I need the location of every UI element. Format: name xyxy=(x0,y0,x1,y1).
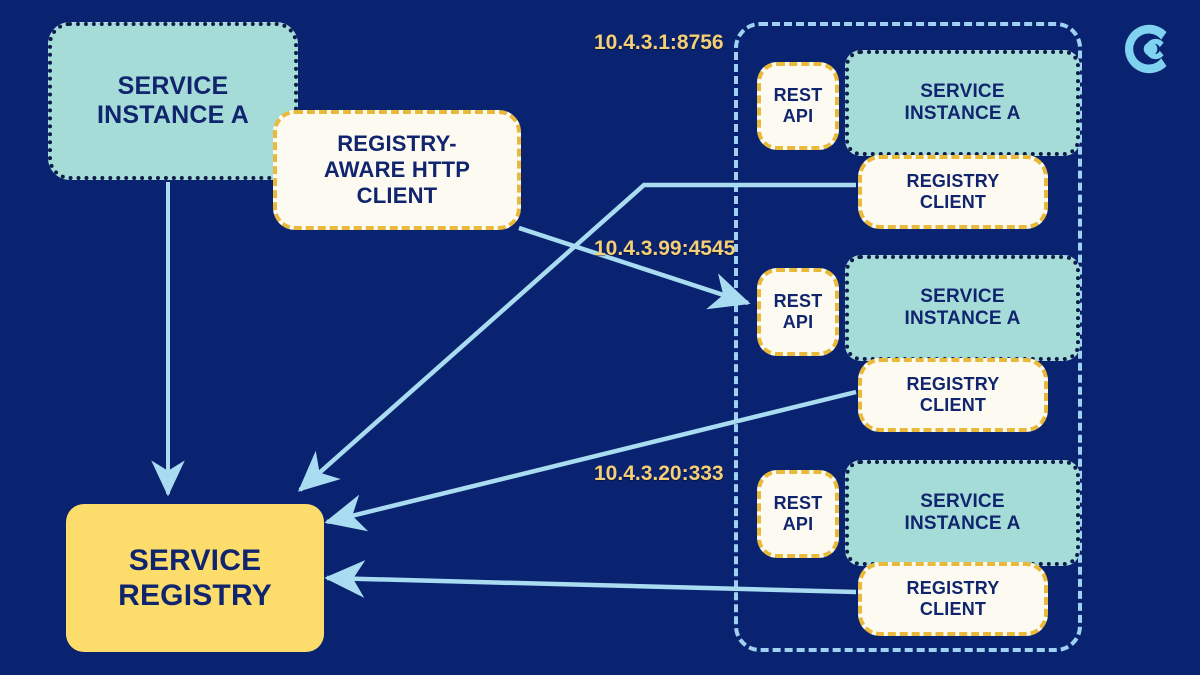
service-registry-line1: SERVICE xyxy=(118,543,272,578)
service-instance-a-1-line1: SERVICE xyxy=(905,81,1021,103)
registry-client-2[interactable]: REGISTRY CLIENT xyxy=(858,358,1048,432)
registry-client-1[interactable]: REGISTRY CLIENT xyxy=(858,155,1048,229)
rest-api-1[interactable]: REST API xyxy=(757,62,839,150)
service-instance-a-3[interactable]: SERVICE INSTANCE A xyxy=(845,460,1080,566)
registry-aware-http-client[interactable]: REGISTRY- AWARE HTTP CLIENT xyxy=(273,110,521,230)
service-instance-a-2[interactable]: SERVICE INSTANCE A xyxy=(845,255,1080,361)
address-label-instance-3: 10.4.3.20:333 xyxy=(594,462,724,486)
registry-client-1-line1: REGISTRY xyxy=(907,171,1000,192)
rest-api-2[interactable]: REST API xyxy=(757,268,839,356)
rest-api-3[interactable]: REST API xyxy=(757,470,839,558)
brand-c-logo-icon xyxy=(1120,18,1182,80)
service-instance-a-main-line1: SERVICE xyxy=(97,72,249,102)
service-instance-a-3-line2: INSTANCE A xyxy=(905,513,1021,535)
registry-client-3[interactable]: REGISTRY CLIENT xyxy=(858,562,1048,636)
rest-api-3-line1: REST xyxy=(774,493,823,514)
rest-api-1-line1: REST xyxy=(774,85,823,106)
service-instance-a-1-line2: INSTANCE A xyxy=(905,103,1021,125)
registry-client-2-line2: CLIENT xyxy=(907,395,1000,416)
rest-api-3-line2: API xyxy=(774,514,823,535)
service-instance-a-main-line2: INSTANCE A xyxy=(97,101,249,131)
service-instance-a-main[interactable]: SERVICE INSTANCE A xyxy=(48,22,298,180)
registry-client-3-line2: CLIENT xyxy=(907,599,1000,620)
service-instance-a-3-line1: SERVICE xyxy=(905,491,1021,513)
registry-client-1-line2: CLIENT xyxy=(907,192,1000,213)
address-label-instance-2: 10.4.3.99:4545 xyxy=(594,237,735,261)
service-instance-a-2-line1: SERVICE xyxy=(905,286,1021,308)
service-instance-a-2-line2: INSTANCE A xyxy=(905,308,1021,330)
service-instance-a-1[interactable]: SERVICE INSTANCE A xyxy=(845,50,1080,156)
http-client-line3: CLIENT xyxy=(324,183,470,209)
service-registry[interactable]: SERVICE REGISTRY xyxy=(66,504,324,652)
http-client-line2: AWARE HTTP xyxy=(324,157,470,183)
rest-api-1-line2: API xyxy=(774,106,823,127)
rest-api-2-line2: API xyxy=(774,312,823,333)
service-registry-line2: REGISTRY xyxy=(118,578,272,613)
address-label-instance-1: 10.4.3.1:8756 xyxy=(594,31,724,55)
registry-client-3-line1: REGISTRY xyxy=(907,578,1000,599)
registry-client-2-line1: REGISTRY xyxy=(907,374,1000,395)
http-client-line1: REGISTRY- xyxy=(324,131,470,157)
diagram-canvas: SERVICE INSTANCE A REGISTRY- AWARE HTTP … xyxy=(0,0,1200,675)
rest-api-2-line1: REST xyxy=(774,291,823,312)
